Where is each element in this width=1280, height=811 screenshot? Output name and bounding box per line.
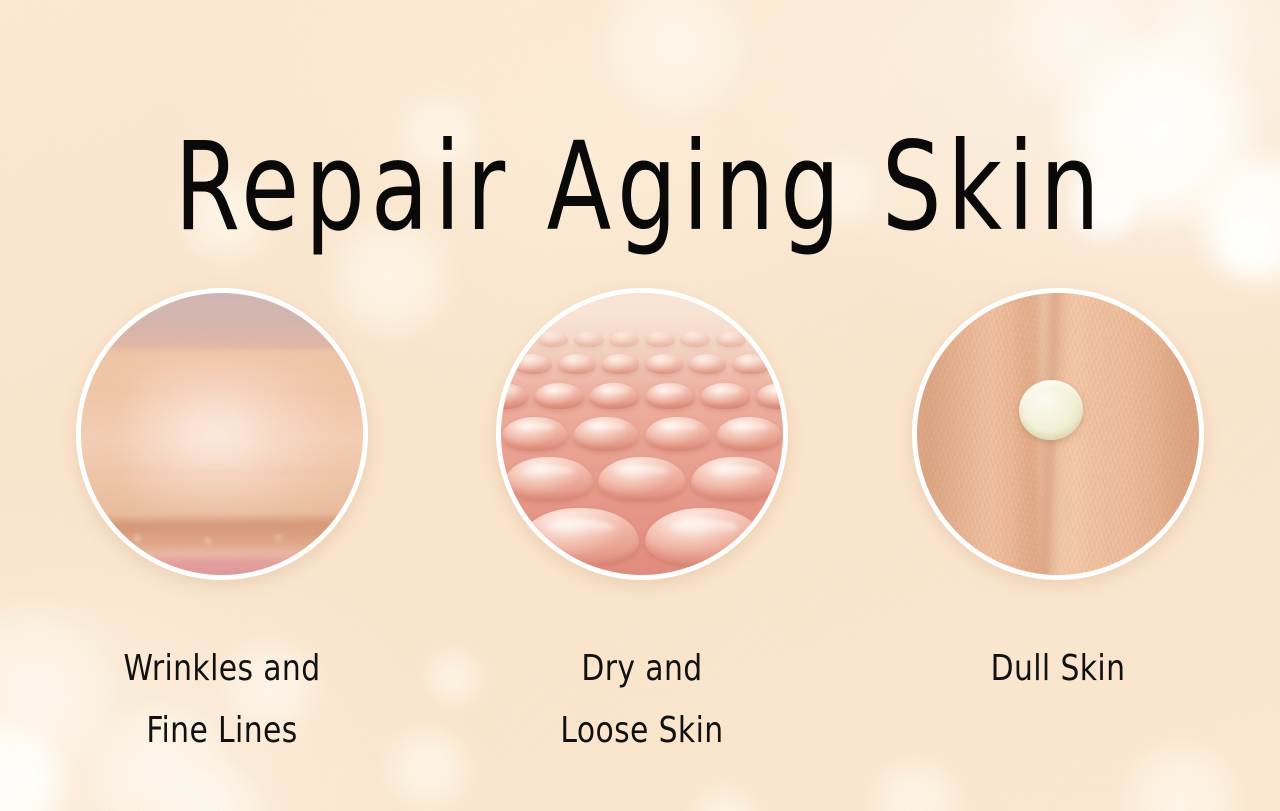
- dull-skin-photo-layers: [917, 293, 1199, 575]
- skin-cell: [505, 457, 593, 501]
- concern-caption: Dry and Loose Skin: [504, 638, 780, 762]
- concern-card-wrinkles-and-fine-lines[interactable]: Wrinkles and Fine Lines: [72, 288, 372, 762]
- concern-image-wrapper: [912, 288, 1204, 580]
- cells-photo-layers: [501, 293, 783, 575]
- concern-image-wrapper: [496, 288, 788, 580]
- skin-photo-layers: [81, 293, 363, 575]
- skin-cell: [501, 508, 516, 566]
- skin-band-line: [81, 517, 363, 519]
- concern-image-wrapper: [76, 288, 368, 580]
- caption-line-2: Loose Skin: [504, 700, 780, 762]
- skin-cell: [502, 417, 568, 451]
- skin-cell: [691, 457, 779, 501]
- depth-of-field-haze: [501, 293, 783, 388]
- soft-skin-closeup-photo: [81, 293, 363, 575]
- cell-row: [501, 508, 783, 566]
- cell-row: [501, 457, 783, 501]
- bokeh-circle: [600, 0, 750, 120]
- bokeh-circle: [1006, 0, 1142, 102]
- bokeh-circle: [1148, 0, 1248, 82]
- edge-shading-left: [917, 293, 989, 575]
- edge-shading-right: [1138, 293, 1199, 575]
- skin-band-line: [81, 347, 363, 352]
- bokeh-circle: [1192, 150, 1280, 288]
- circular-photo-frame: [912, 288, 1204, 580]
- skin-cells-3d-render: [501, 293, 783, 575]
- skin-cell: [598, 457, 686, 501]
- page-title: Repair Aging Skin: [90, 126, 1191, 248]
- concern-caption: Dull Skin: [920, 638, 1196, 700]
- bokeh-circle: [690, 786, 760, 811]
- caption-line-1: Dull Skin: [920, 638, 1196, 700]
- concern-card-dull-skin[interactable]: Dull Skin: [908, 288, 1208, 700]
- skin-cell: [768, 508, 783, 566]
- skin-cell: [645, 508, 763, 566]
- skin-cell: [521, 508, 639, 566]
- caption-line-1: Wrinkles and: [84, 638, 360, 700]
- caption-line-2: Fine Lines: [84, 700, 360, 762]
- circular-photo-frame: [76, 288, 368, 580]
- bokeh-circle: [1218, 212, 1280, 274]
- concern-card-dry-and-loose-skin[interactable]: Dry and Loose Skin: [492, 288, 792, 762]
- concerns-row: Wrinkles and Fine Lines: [0, 288, 1280, 768]
- dull-skin-with-cream-drop-photo: [917, 293, 1199, 575]
- skin-band-line: [81, 471, 363, 473]
- poster-canvas: Repair Aging Skin: [0, 0, 1280, 811]
- circular-photo-frame: [496, 288, 788, 580]
- concern-caption: Wrinkles and Fine Lines: [84, 638, 360, 762]
- skin-cell: [573, 417, 639, 451]
- skin-cell: [716, 417, 782, 451]
- skin-cell: [645, 417, 711, 451]
- cell-row: [501, 417, 783, 451]
- caption-line-1: Dry and: [504, 638, 780, 700]
- skin-highlight: [130, 354, 336, 520]
